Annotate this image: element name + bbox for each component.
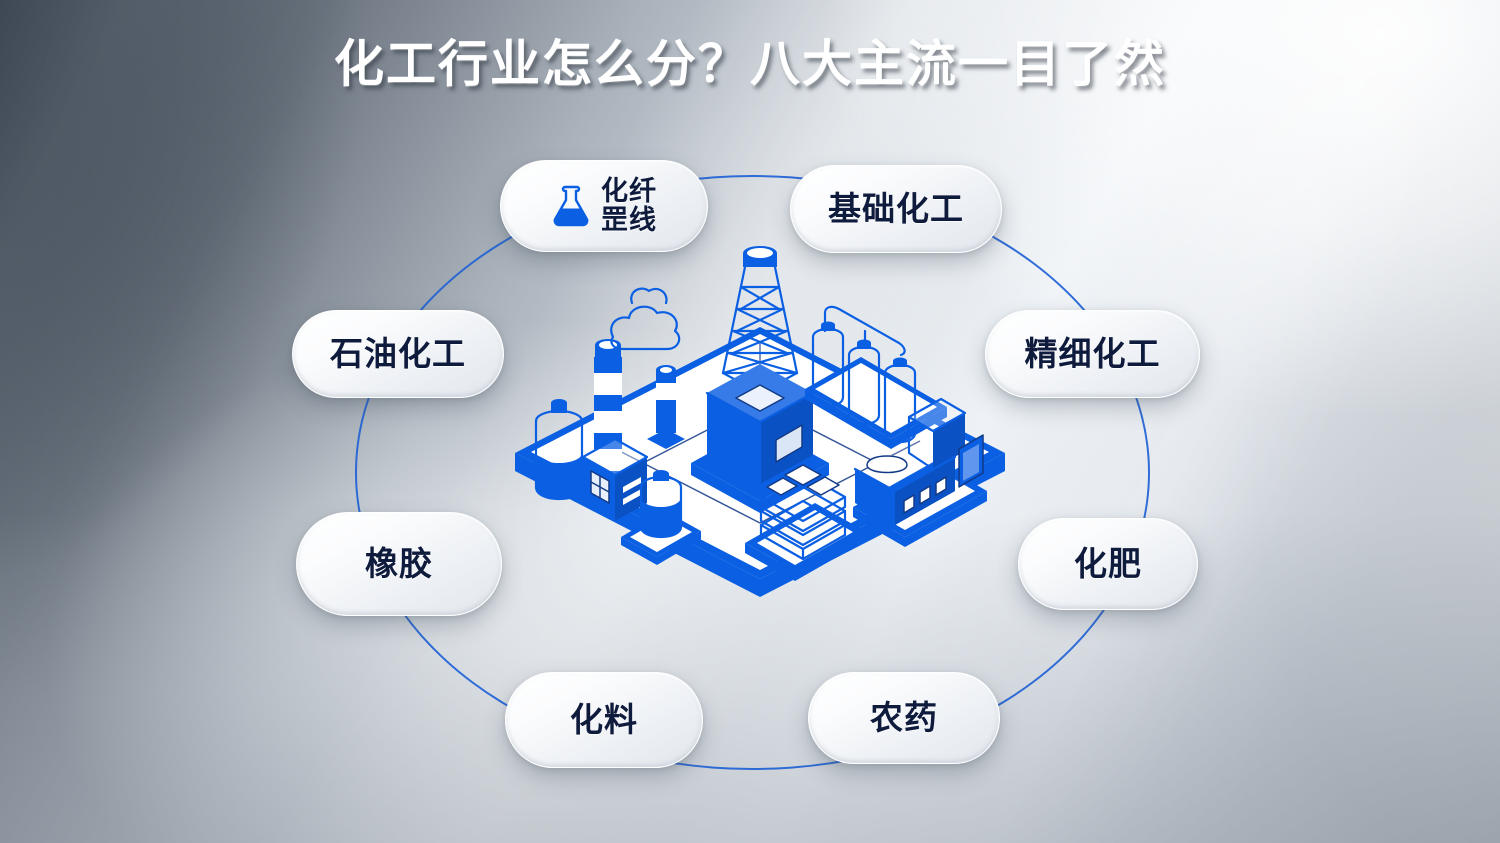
node-label: 化肥 [1074,546,1142,582]
node-label: 农药 [870,700,938,736]
node-pill-huafei[interactable]: 化肥 [1018,518,1198,610]
node-pill-nongyao[interactable]: 农药 [808,672,1000,764]
node-label: 石油化工 [330,336,466,372]
node-pill-xiangjiao[interactable]: 橡胶 [296,512,502,616]
node-pill-jingxi[interactable]: 精细化工 [985,310,1200,398]
node-label: 精细化工 [1025,336,1161,372]
page-title: 化工行业怎么分？八大主流一目了然 [0,24,1500,96]
flask-icon [551,183,591,229]
node-pill-shiyou[interactable]: 石油化工 [292,310,504,398]
node-label: 橡胶 [365,546,433,582]
slide-canvas: 化工行业怎么分？八大主流一目了然 .b { fill:#0b5fe3; } .b… [0,0,1500,843]
node-label: 化料 [570,702,638,738]
node-label: 基础化工 [828,191,964,227]
isometric-chemical-plant-illustration: .b { fill:#0b5fe3; } .bd { fill:#0a51c4;… [495,225,1025,610]
node-pill-huaoliao[interactable]: 化料 [505,672,703,768]
node-label: 化纤 罡线 [601,177,657,235]
node-pill-huaxian[interactable]: 化纤 罡线 [500,160,708,252]
node-pill-jichu[interactable]: 基础化工 [790,165,1002,253]
